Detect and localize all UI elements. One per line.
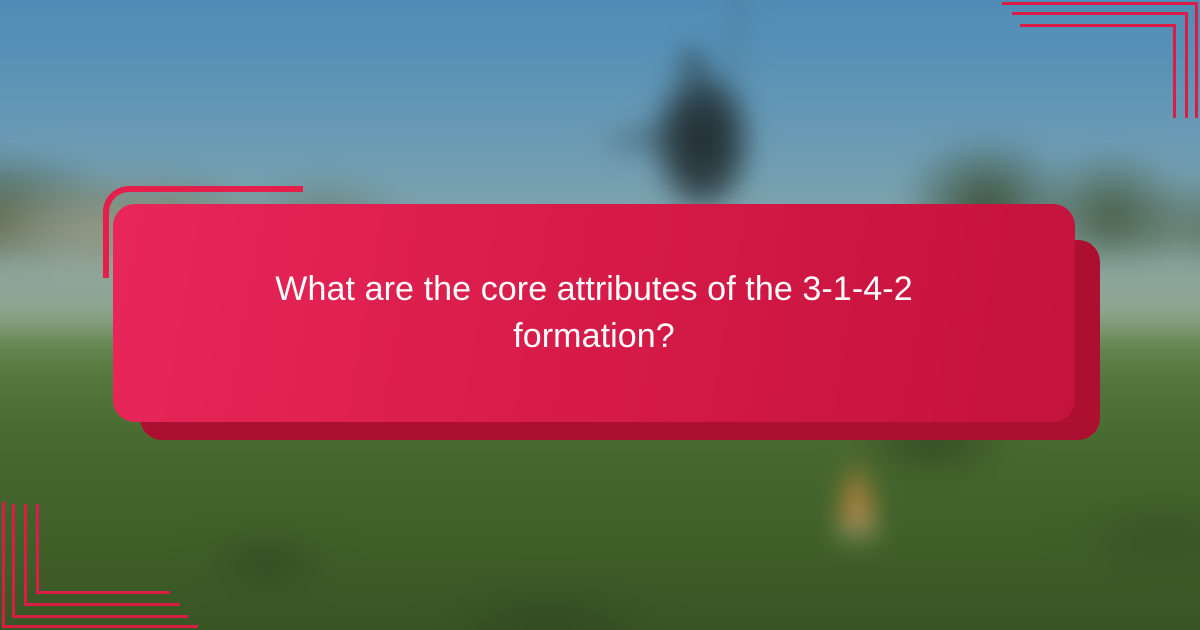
question-card: What are the core attributes of the 3-1-… [113,204,1075,422]
question-card-stack: What are the core attributes of the 3-1-… [0,0,1200,630]
poster-canvas: What are the core attributes of the 3-1-… [0,0,1200,630]
page-title: What are the core attributes of the 3-1-… [214,266,974,360]
